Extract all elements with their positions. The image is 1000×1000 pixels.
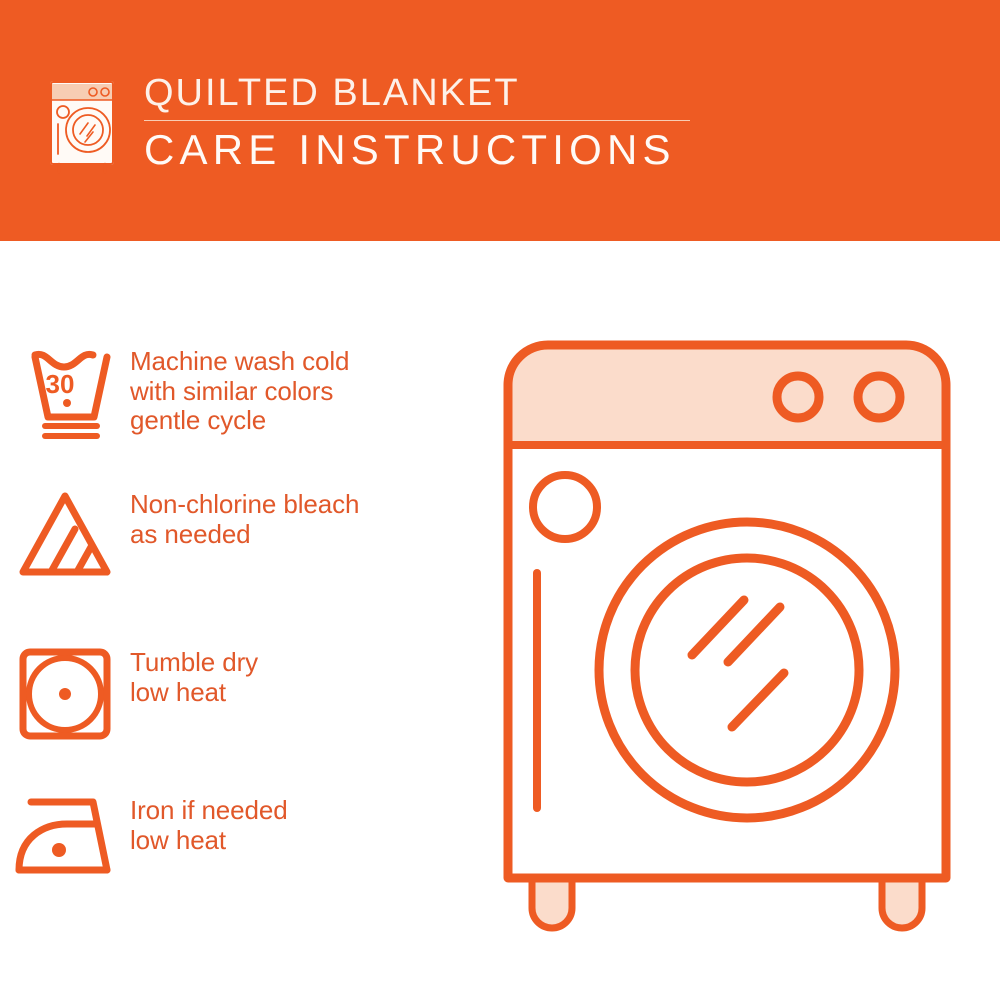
header-title-block: QUILTED BLANKET CARE INSTRUCTIONS <box>144 72 704 182</box>
care-item-label: Iron if needed low heat <box>130 794 288 855</box>
machine-control-panel <box>508 345 946 445</box>
wash-temperature-label: 30 <box>46 369 75 399</box>
front-load-washing-machine-illustration <box>490 330 980 950</box>
machine-door-outer-ring <box>599 522 895 818</box>
care-item-line: Iron if needed <box>130 796 288 826</box>
machine-door-shine-lines <box>692 600 784 727</box>
wash-tub-gentle-cycle-icon: 30 <box>0 345 130 441</box>
care-item-line: gentle cycle <box>130 406 349 436</box>
title-divider <box>144 120 690 121</box>
care-item-line: low heat <box>130 826 288 856</box>
care-item-line: Non-chlorine bleach <box>130 490 359 520</box>
header-banner: QUILTED BLANKET CARE INSTRUCTIONS <box>0 0 1000 241</box>
page-title-secondary: CARE INSTRUCTIONS <box>144 127 704 173</box>
care-item-tumble-dry: Tumble dry low heat <box>0 646 470 742</box>
care-item-line: Tumble dry <box>130 648 258 678</box>
washing-machine-icon <box>46 68 122 176</box>
tumble-dry-low-heat-icon <box>0 646 130 742</box>
care-item-label: Tumble dry low heat <box>130 646 258 707</box>
care-item-bleach: Non-chlorine bleach as needed <box>0 488 470 580</box>
machine-legs <box>532 878 922 928</box>
machine-indicator-light <box>533 475 597 539</box>
care-item-iron: Iron if needed low heat <box>0 794 470 878</box>
care-item-line: as needed <box>130 520 359 550</box>
care-item-machine-wash: 30 Machine wash cold with similar colors… <box>0 345 470 441</box>
care-instructions-infographic: QUILTED BLANKET CARE INSTRUCTIONS 30 <box>0 0 1000 1000</box>
care-item-label: Non-chlorine bleach as needed <box>130 488 359 549</box>
machine-door-inner-ring <box>635 558 859 782</box>
care-item-line: low heat <box>130 678 258 708</box>
care-item-line: Machine wash cold <box>130 347 349 377</box>
care-symbol-list: 30 Machine wash cold with similar colors… <box>0 241 480 1000</box>
page-title-primary: QUILTED BLANKET <box>144 72 704 114</box>
bleach-triangle-icon <box>0 488 130 580</box>
care-item-label: Machine wash cold with similar colors ge… <box>130 345 349 436</box>
care-item-line: with similar colors <box>130 377 349 407</box>
iron-low-heat-icon <box>0 794 130 878</box>
